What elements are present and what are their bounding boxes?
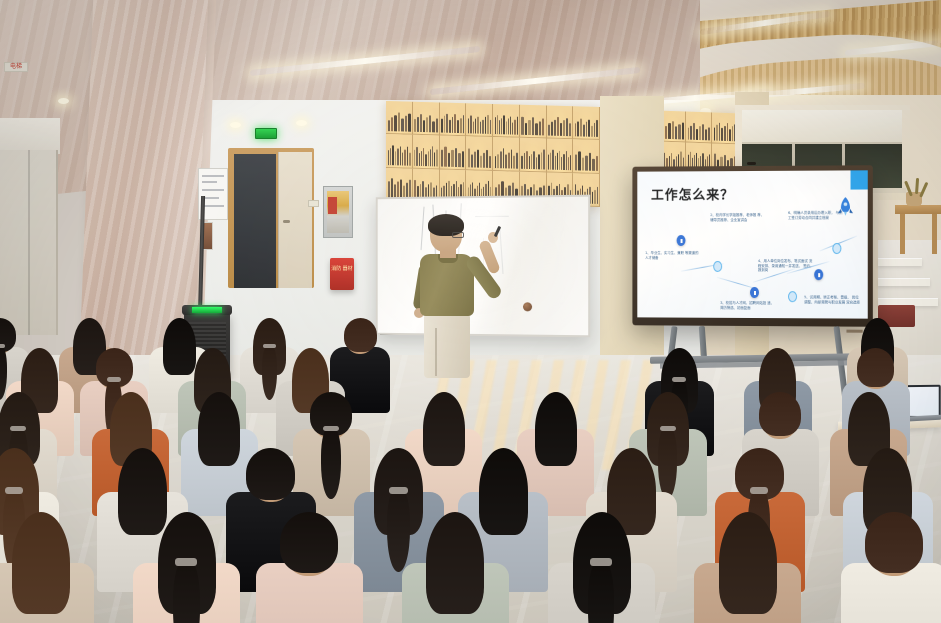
slide-node-5	[814, 269, 823, 280]
books	[575, 150, 598, 171]
audience-member-hair	[280, 512, 338, 573]
door-handle[interactable]	[283, 220, 290, 223]
slide-node-6	[832, 243, 841, 254]
hair-tie	[263, 344, 276, 348]
audience-member-hair	[535, 392, 577, 466]
bookshelf-cubby	[493, 137, 520, 171]
presenter	[412, 216, 492, 376]
slide-accent-square	[851, 170, 868, 189]
books	[662, 120, 685, 139]
bookshelf-cubby	[520, 105, 547, 139]
audience-member-hair	[12, 512, 70, 614]
hair-tie	[10, 426, 26, 432]
bookshelf-cubby	[413, 102, 440, 136]
hair-tie	[672, 377, 686, 382]
audience-member	[12, 512, 70, 623]
bookshelf-cubby	[386, 134, 413, 168]
whiteboard-magnet[interactable]	[523, 302, 532, 311]
books	[414, 112, 437, 133]
bookshelf-cubby	[386, 101, 413, 135]
hair-tie	[175, 558, 197, 566]
shelf-leg	[900, 214, 905, 254]
presenter-leg-split	[435, 328, 437, 376]
shelf-leg	[932, 214, 937, 254]
audience-member-ponytail	[658, 427, 677, 499]
pa-speaker-display	[192, 307, 222, 313]
bookshelf-cubby	[440, 103, 467, 137]
slide-screen[interactable]: 工作怎么来？ 1、毕业生、实习生、兼职 等渠道的人才储备 2、校内学长学姐推荐、…	[637, 170, 867, 318]
slide-note-5: 5、试用期、转正考核、晋级、 岗位调整、内部竞聘与职业发展 双向选择	[804, 295, 861, 304]
books	[441, 113, 464, 134]
bookshelf-cubby	[573, 140, 600, 174]
books	[388, 111, 411, 132]
slide-note-4: 4、用人单位岗位发布、笔试面试 流程安排、录用通知一并发送、 签约、报到岗	[758, 259, 814, 273]
audience-member	[280, 512, 338, 623]
audience-member-ponytail	[588, 560, 615, 623]
audience-member-hair	[344, 318, 377, 352]
hair-tie	[660, 426, 676, 432]
bookshelf-cubby	[493, 104, 520, 138]
roller-blind	[742, 110, 902, 144]
hair-tie	[750, 487, 769, 494]
audience-member-hair	[759, 392, 801, 436]
elevator-doors[interactable]	[0, 150, 58, 335]
books	[414, 145, 437, 166]
books	[521, 148, 544, 169]
wall-plate	[308, 200, 319, 207]
hair-tie	[389, 487, 408, 494]
audience-member-ponytail	[321, 427, 340, 499]
bookshelf-cubby	[547, 139, 574, 173]
slide-note-3: 3、校招与人才网、招聘网站投 递、简历筛选、初面复面	[720, 301, 776, 310]
audience-member-hair	[198, 392, 240, 466]
exit-sign	[255, 128, 277, 139]
wooden-shelf	[895, 205, 941, 214]
audience-member	[719, 512, 777, 623]
books	[521, 115, 544, 136]
slide-node-4	[788, 291, 797, 302]
audience-member-hair	[426, 512, 484, 614]
books	[548, 116, 571, 137]
books	[495, 114, 518, 135]
audience-member-hair	[857, 348, 894, 387]
bookshelf-cubby	[573, 106, 600, 140]
audience-member-ponytail	[387, 488, 410, 572]
elevator-header	[0, 118, 60, 154]
audience-member-hair	[479, 448, 528, 535]
books	[441, 146, 464, 167]
books	[388, 145, 411, 166]
fire-equipment-box: 消防 器材	[330, 258, 354, 290]
elevator-sign: 电梯	[4, 62, 28, 72]
books	[495, 148, 518, 169]
fire-equipment-label: 消防 器材	[330, 258, 354, 290]
audience-member-hair	[719, 512, 777, 614]
bookshelf-cubby	[466, 103, 493, 137]
door-opening	[234, 154, 276, 288]
bookshelf-cubby	[520, 138, 547, 172]
display-camera	[747, 162, 756, 165]
fire-hose-reel	[328, 197, 337, 214]
rocket-icon	[837, 197, 853, 219]
audience-member-hair	[246, 448, 295, 500]
slide-node-3	[750, 287, 759, 298]
presenter-trousers	[424, 312, 470, 378]
glasses-icon	[452, 232, 464, 238]
bookshelf-cubby	[547, 105, 574, 139]
hair-tie	[5, 487, 24, 494]
audience-member	[426, 512, 484, 623]
hair-tie	[323, 426, 339, 432]
fire-hose-cabinet[interactable]	[323, 186, 353, 238]
slide-node-2	[713, 261, 722, 272]
books	[575, 117, 598, 138]
downlight	[230, 122, 241, 128]
bookshelf-cubby	[466, 137, 493, 171]
elevator-door-split	[28, 150, 30, 335]
slide-note-2: 2、校内学长学姐推荐、老师推 荐、辅导员推荐、企业宣讲会	[710, 213, 766, 222]
door-leaf[interactable]	[278, 152, 312, 288]
audience-member-hair	[163, 318, 196, 375]
downlight	[58, 98, 69, 104]
photo-scene: 电梯 消防 器材	[0, 0, 941, 623]
audience-member-hair	[865, 512, 923, 573]
audience-member-ponytail	[173, 560, 200, 623]
slide-title: 工作怎么来？	[651, 184, 734, 203]
slide-note-6: 6、明确人员录用后办理入职， 与员工签订劳动合同并建立档案	[788, 211, 844, 220]
slide-note-1: 1、毕业生、实习生、兼职 等渠道的人才储备	[645, 251, 700, 260]
bookshelf-cubby	[413, 135, 440, 169]
slide-node-1	[677, 235, 686, 246]
books	[548, 149, 571, 170]
audience-member-hair	[423, 392, 465, 466]
books	[468, 147, 491, 168]
audience-member	[573, 512, 631, 623]
hair-tie	[107, 377, 121, 382]
downlight	[296, 120, 307, 126]
backlit-bookshelf-wall	[386, 101, 600, 207]
audience-member	[158, 512, 216, 623]
books	[468, 114, 491, 135]
books	[714, 122, 737, 141]
audience-member	[310, 392, 352, 526]
interactive-display[interactable]: 工作怎么来？ 1、毕业生、实习生、兼职 等渠道的人才储备 2、校内学长学姐推荐、…	[632, 165, 872, 327]
bookshelf-cubby	[440, 136, 467, 170]
door-frame[interactable]	[228, 148, 314, 288]
audience-member	[865, 512, 923, 623]
hair-tie	[590, 558, 612, 566]
